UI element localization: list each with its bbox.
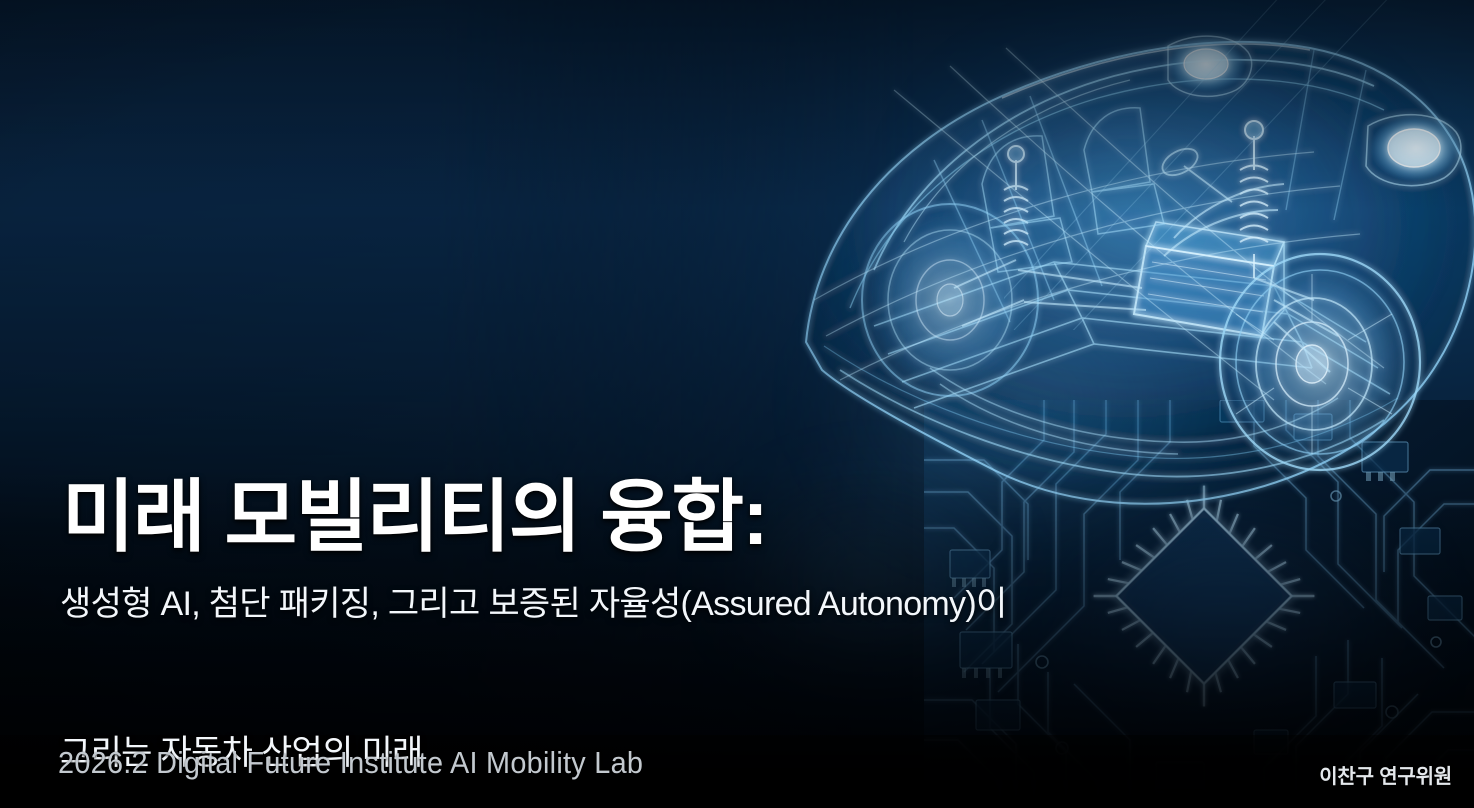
- footer-author-label: 이찬구 연구위원: [1319, 760, 1452, 789]
- top-darken-overlay: [0, 0, 1474, 210]
- footer-organization-label: 2026.2 Digital Future Institute AI Mobil…: [58, 745, 643, 781]
- presentation-slide: 미래 모빌리티의 융합: AI, 반도체, 그리고 신뢰 생성형 AI, 첨단 …: [0, 0, 1474, 808]
- subtitle-line-1: 생성형 AI, 첨단 패키징, 그리고 보증된 자율성(Assured Auto…: [60, 580, 1007, 630]
